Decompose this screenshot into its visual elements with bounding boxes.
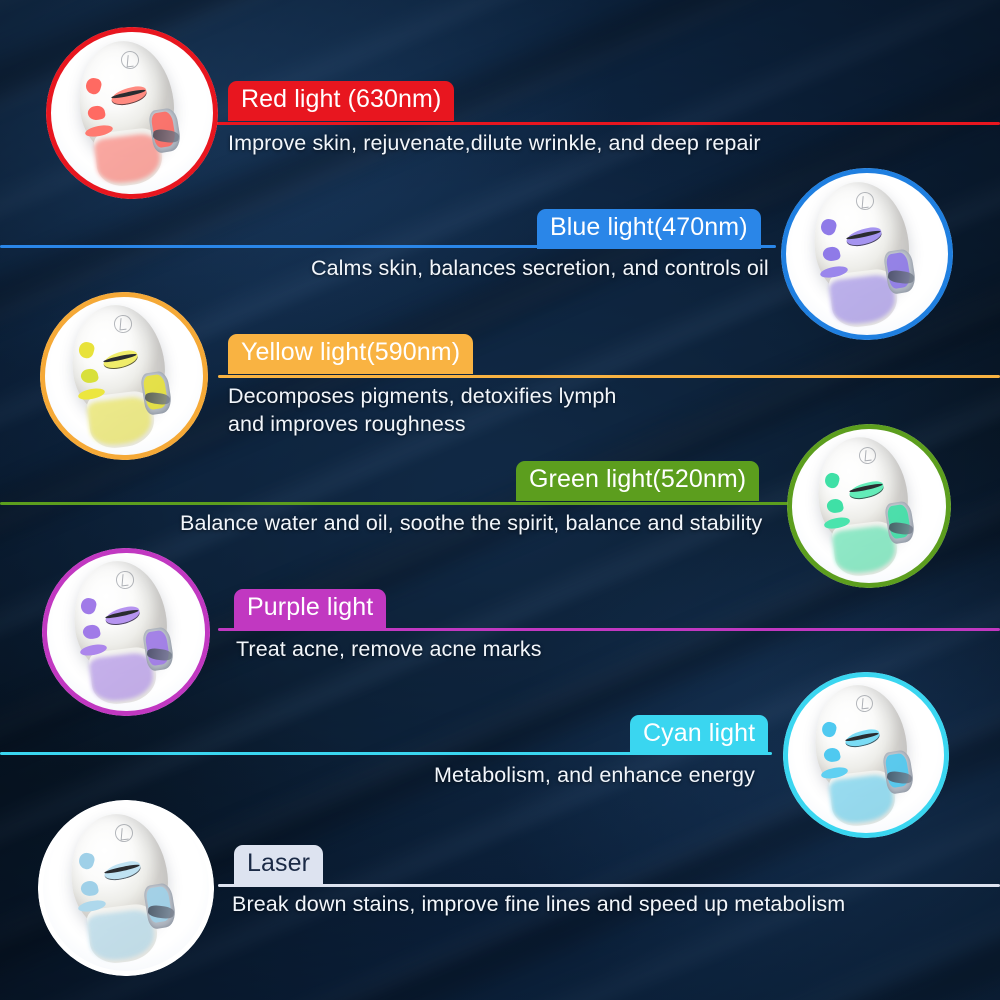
infographic-stage: Red light (630nm) Improve skin, rejuvena…	[0, 0, 1000, 1000]
description-green: Balance water and oil, soothe the spirit…	[180, 510, 762, 538]
led-mask-laser	[38, 800, 214, 976]
led-mask-red	[46, 27, 218, 199]
led-mask-green	[787, 424, 951, 588]
led-mask-blue	[781, 168, 953, 340]
description-blue: Calms skin, balances secretion, and cont…	[311, 255, 769, 283]
badge-yellow[interactable]: Yellow light(590nm)	[228, 334, 473, 374]
led-mask-purple	[42, 548, 210, 716]
led-mask-yellow	[40, 292, 208, 460]
badge-green[interactable]: Green light(520nm)	[516, 461, 759, 501]
divider-red	[205, 122, 1000, 125]
badge-cyan[interactable]: Cyan light	[630, 715, 768, 755]
description-laser: Break down stains, improve fine lines an…	[232, 891, 845, 919]
badge-laser[interactable]: Laser	[234, 845, 323, 885]
description-cyan: Metabolism, and enhance energy	[434, 762, 755, 790]
description-yellow: Decomposes pigments, detoxifies lymph an…	[228, 383, 617, 439]
divider-yellow	[218, 375, 1000, 378]
led-mask-cyan	[783, 672, 949, 838]
description-red: Improve skin, rejuvenate,dilute wrinkle,…	[228, 130, 761, 158]
badge-blue[interactable]: Blue light(470nm)	[537, 209, 761, 249]
badge-purple[interactable]: Purple light	[234, 589, 386, 629]
badge-red[interactable]: Red light (630nm)	[228, 81, 454, 121]
divider-laser	[218, 884, 1000, 887]
description-purple: Treat acne, remove acne marks	[236, 636, 542, 664]
divider-green	[0, 502, 790, 505]
